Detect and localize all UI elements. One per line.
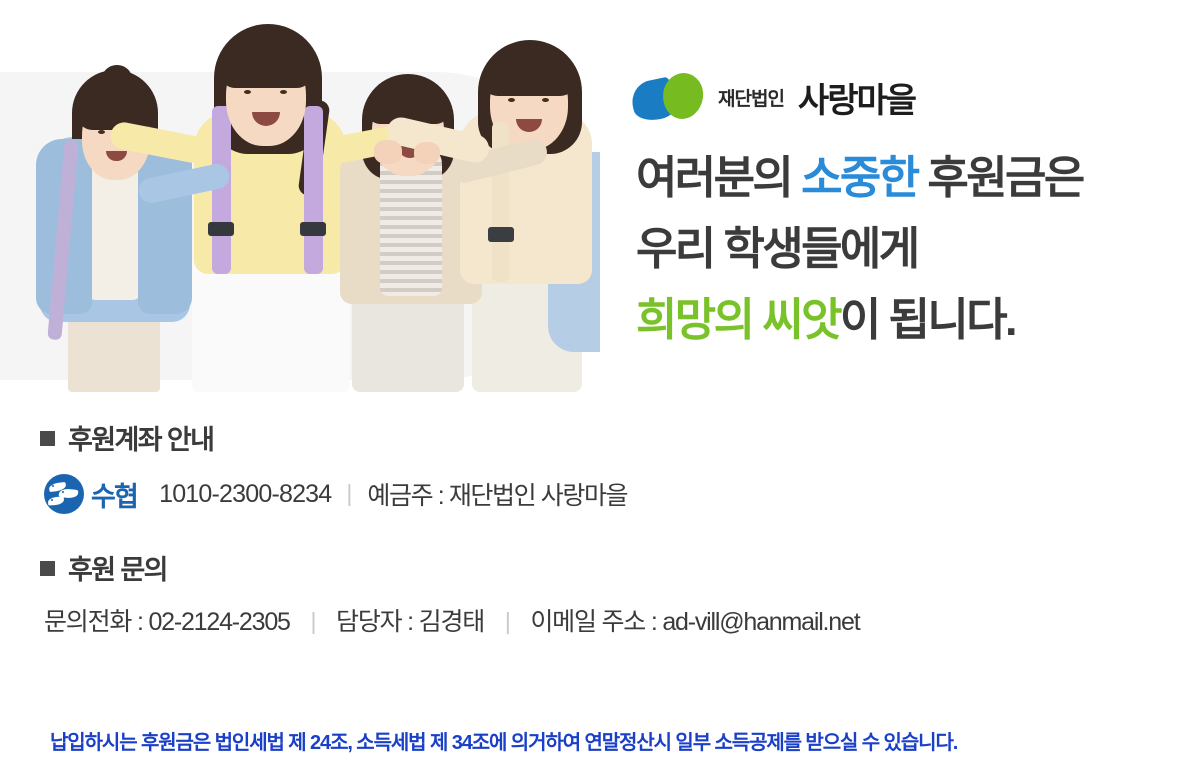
student-4-buckle [488, 227, 514, 242]
headline-line-1: 여러분의 소중한 후원금은 [636, 142, 1196, 213]
bank-logo: 수협 [44, 474, 137, 514]
account-holder: 예금주 : 재단법인 사랑마을 [367, 476, 627, 512]
brand-prefix: 재단법인 [718, 84, 784, 111]
brand-logo: 재단법인 사랑마을 [632, 72, 915, 122]
inquiry-manager: 담당자 : 김경태 [336, 608, 484, 636]
inquiry-phone[interactable]: 문의전화 : 02-2124-2305 [44, 608, 290, 636]
student-4 [452, 40, 600, 392]
fish-eye-3 [51, 499, 53, 501]
suhyup-fish-icon [44, 474, 84, 514]
inquiry-row: 문의전화 : 02-2124-2305 | 담당자 : 김경태 | 이메일 주소… [44, 602, 859, 638]
student-1-jacket-right [138, 139, 192, 314]
student-2-strap-right [304, 106, 323, 274]
account-separator: | [346, 480, 352, 507]
tax-deduction-note: 납입하시는 후원금은 법인세법 제 24조, 소득세법 제 34조에 의거하여 … [50, 726, 957, 755]
headline-highlight-blue: 소중한 [801, 152, 917, 203]
square-bullet-icon [40, 561, 55, 576]
headline: 여러분의 소중한 후원금은 우리 학생들에게 희망의 씨앗이 됩니다. [636, 142, 1196, 355]
foundation-logo-icon [632, 72, 706, 122]
headline-line1-c: 후원금은 [918, 152, 1083, 203]
student-4-eye-left [508, 98, 515, 102]
donation-banner: 재단법인 사랑마을 여러분의 소중한 후원금은 우리 학생들에게 희망의 씨앗이… [0, 0, 1200, 771]
fish-eye-2 [62, 491, 64, 493]
student-2-buckle-right [300, 222, 326, 236]
fish-eye-1 [52, 485, 54, 487]
account-row: 수협 1010-2300-8234 | 예금주 : 재단법인 사랑마을 [44, 474, 627, 514]
headline-highlight-green: 희망의 씨앗 [636, 294, 840, 345]
headline-line-3: 희망의 씨앗이 됩니다. [636, 284, 1196, 355]
account-number[interactable]: 1010-2300-8234 [159, 480, 331, 509]
inquiry-section-heading: 후원 문의 [40, 548, 167, 587]
account-section-heading: 후원계좌 안내 [40, 418, 213, 457]
student-4-eye-right [542, 98, 549, 102]
student-2-eye-left [244, 90, 251, 94]
hero-section: 재단법인 사랑마을 여러분의 소중한 후원금은 우리 학생들에게 희망의 씨앗이… [0, 0, 1200, 392]
brand-name: 사랑마을 [798, 73, 915, 122]
fish-shape-3 [48, 496, 65, 505]
students-photo [0, 0, 600, 392]
bank-name-label: 수협 [91, 475, 137, 514]
student-2-bangs [220, 44, 312, 88]
headline-line3-b: 이 됩니다. [840, 294, 1015, 345]
square-bullet-icon [40, 431, 55, 446]
student-2-hand-right [414, 142, 440, 164]
headline-line-2: 우리 학생들에게 [636, 213, 1196, 284]
student-2-buckle-left [208, 222, 234, 236]
student-2-eye-right [280, 90, 287, 94]
student-3-bangs [366, 82, 450, 124]
account-heading-label: 후원계좌 안내 [68, 418, 213, 457]
student-1-hair-bun [102, 65, 132, 92]
student-4-hand [374, 140, 402, 164]
student-1-eye-left [98, 130, 105, 134]
inquiry-heading-label: 후원 문의 [68, 548, 167, 587]
inquiry-separator-1: | [310, 608, 315, 634]
student-2-strap-left [212, 106, 231, 274]
inquiry-email[interactable]: 이메일 주소 : ad-vill@hanmail.net [530, 608, 859, 636]
student-4-bangs [482, 50, 576, 96]
headline-line1-a: 여러분의 [636, 152, 801, 203]
inquiry-separator-2: | [505, 608, 510, 634]
